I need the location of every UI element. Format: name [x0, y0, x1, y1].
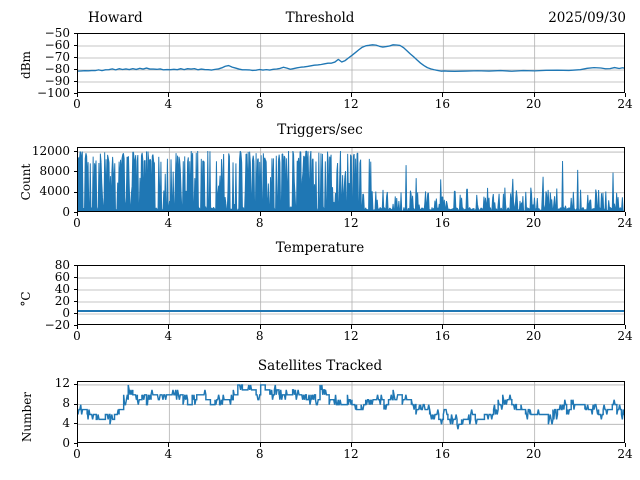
panel-threshold-ylabel: dBm	[19, 35, 33, 95]
x-tick-label: 8	[240, 97, 280, 111]
x-tick-label: 20	[514, 216, 554, 230]
y-tick-mark	[74, 192, 78, 193]
y-tick-mark	[74, 313, 78, 314]
x-tick-mark	[351, 443, 352, 447]
x-tick-label: 4	[148, 97, 188, 111]
x-tick-label: 12	[331, 329, 371, 343]
x-tick-label: 12	[331, 447, 371, 461]
panel-triggers-plot-area	[77, 147, 625, 212]
x-tick-label: 8	[240, 216, 280, 230]
y-tick-mark	[74, 81, 78, 82]
x-tick-mark	[534, 93, 535, 97]
y-tick-mark	[74, 301, 78, 302]
x-tick-label: 20	[514, 97, 554, 111]
y-tick-mark	[74, 265, 78, 266]
x-tick-label: 0	[57, 329, 97, 343]
x-tick-mark	[442, 212, 443, 216]
y-tick-label: 12	[55, 377, 70, 390]
x-tick-mark	[168, 325, 169, 329]
y-tick-label: −50	[45, 27, 70, 40]
x-tick-mark	[351, 212, 352, 216]
x-tick-label: 4	[148, 216, 188, 230]
x-tick-mark	[534, 325, 535, 329]
panel-satellites-titles: Satellites Tracked	[0, 358, 640, 376]
panel-satellites-title: Satellites Tracked	[0, 358, 640, 374]
y-tick-mark	[74, 289, 78, 290]
x-tick-label: 12	[331, 97, 371, 111]
x-tick-mark	[168, 443, 169, 447]
panel-temperature-plot-area	[77, 265, 625, 325]
x-tick-mark	[625, 212, 626, 216]
x-tick-mark	[260, 325, 261, 329]
x-tick-mark	[351, 325, 352, 329]
y-tick-label: 60	[55, 271, 70, 284]
y-tick-mark	[74, 277, 78, 278]
x-tick-label: 12	[331, 216, 371, 230]
y-tick-label: −60	[45, 39, 70, 52]
y-tick-label: 8000	[39, 165, 70, 178]
panel-threshold-titles: Howard Threshold 2025/09/30	[0, 10, 640, 28]
y-tick-mark	[74, 45, 78, 46]
x-tick-label: 16	[422, 216, 462, 230]
x-tick-mark	[442, 93, 443, 97]
panel-triggers-svg	[78, 148, 625, 212]
y-tick-mark	[74, 33, 78, 34]
date-label: 2025/09/30	[548, 10, 626, 26]
x-tick-label: 24	[605, 329, 640, 343]
x-tick-label: 20	[514, 447, 554, 461]
y-tick-mark	[74, 423, 78, 424]
x-tick-mark	[442, 325, 443, 329]
x-tick-label: 24	[605, 216, 640, 230]
x-tick-label: 0	[57, 216, 97, 230]
x-tick-label: 0	[57, 447, 97, 461]
x-tick-mark	[260, 443, 261, 447]
x-tick-mark	[351, 93, 352, 97]
x-tick-label: 20	[514, 329, 554, 343]
x-tick-mark	[77, 212, 78, 216]
x-tick-mark	[534, 443, 535, 447]
x-tick-mark	[625, 93, 626, 97]
y-tick-label: 20	[55, 295, 70, 308]
x-tick-label: 8	[240, 447, 280, 461]
panel-satellites-plot-area	[77, 381, 625, 443]
panel-temperature-ylabel: °C	[19, 264, 33, 334]
x-tick-mark	[442, 443, 443, 447]
y-tick-mark	[74, 384, 78, 385]
panel-triggers-titles: Triggers/sec	[0, 122, 640, 140]
panel-threshold-plot-area	[77, 33, 625, 93]
x-tick-label: 4	[148, 329, 188, 343]
y-tick-label: 4	[62, 417, 70, 430]
y-tick-label: −90	[45, 75, 70, 88]
panel-temperature-titles: Temperature	[0, 240, 640, 258]
y-tick-label: 12000	[32, 145, 70, 158]
x-tick-label: 0	[57, 97, 97, 111]
x-tick-mark	[260, 93, 261, 97]
y-tick-mark	[74, 69, 78, 70]
x-tick-mark	[260, 212, 261, 216]
panel-temperature-title: Temperature	[0, 240, 640, 256]
y-tick-mark	[74, 151, 78, 152]
panel-threshold-title: Threshold	[0, 10, 640, 26]
panel-satellites-svg	[78, 382, 625, 443]
x-tick-label: 16	[422, 329, 462, 343]
y-tick-label: 0	[62, 307, 70, 320]
x-tick-mark	[534, 212, 535, 216]
x-tick-label: 16	[422, 97, 462, 111]
x-tick-mark	[625, 325, 626, 329]
panel-threshold-svg	[78, 34, 625, 93]
x-tick-label: 8	[240, 329, 280, 343]
y-tick-label: 40	[55, 283, 70, 296]
y-tick-label: −70	[45, 51, 70, 64]
panel-temperature-svg	[78, 266, 625, 325]
y-tick-label: 4000	[39, 185, 70, 198]
x-tick-mark	[625, 443, 626, 447]
y-tick-label: 80	[55, 259, 70, 272]
x-tick-mark	[77, 325, 78, 329]
x-tick-label: 16	[422, 447, 462, 461]
x-tick-mark	[77, 443, 78, 447]
y-tick-mark	[74, 57, 78, 58]
y-tick-mark	[74, 171, 78, 172]
panel-triggers-title: Triggers/sec	[0, 122, 640, 138]
figure-canvas: Howard Threshold 2025/09/30 dBm Triggers…	[0, 0, 640, 480]
y-tick-label: −80	[45, 63, 70, 76]
x-tick-mark	[168, 212, 169, 216]
x-tick-label: 4	[148, 447, 188, 461]
x-tick-label: 24	[605, 97, 640, 111]
x-tick-mark	[77, 93, 78, 97]
y-tick-mark	[74, 404, 78, 405]
x-tick-mark	[168, 93, 169, 97]
panel-satellites-ylabel: Number	[20, 377, 34, 457]
y-tick-label: 8	[62, 397, 70, 410]
x-tick-label: 24	[605, 447, 640, 461]
